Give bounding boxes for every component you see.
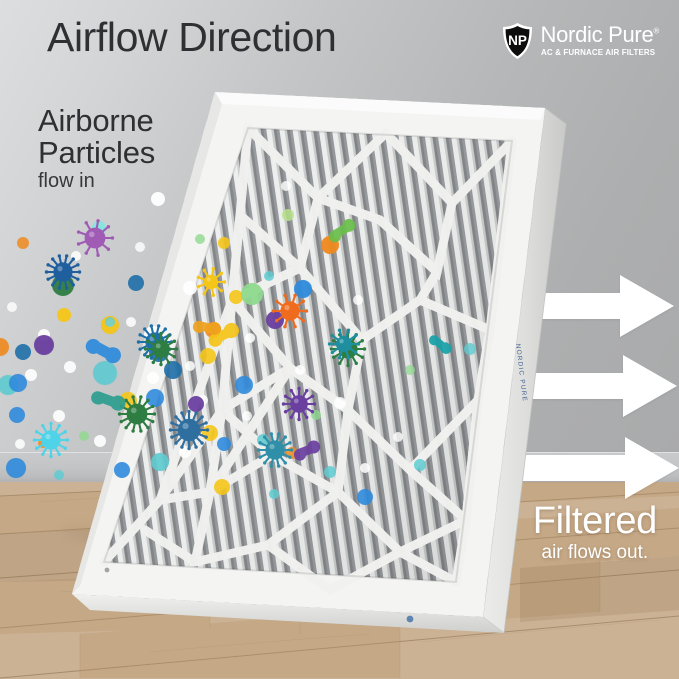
particle-dot bbox=[151, 192, 165, 206]
particle-germ bbox=[327, 327, 361, 361]
particle-germ bbox=[32, 421, 70, 459]
particle-dot bbox=[295, 365, 305, 375]
particle-dot bbox=[245, 333, 255, 343]
particle-dot bbox=[241, 283, 263, 305]
particle-dot bbox=[114, 462, 130, 478]
inflow-caption-line1: Airborne bbox=[38, 105, 155, 137]
particle-dot bbox=[25, 369, 37, 381]
particle-dot bbox=[54, 470, 64, 480]
particle-germ bbox=[271, 292, 309, 330]
particle-dot bbox=[15, 344, 31, 360]
particle-germ bbox=[143, 331, 179, 367]
particle-dot bbox=[135, 242, 145, 252]
particle-dot bbox=[282, 209, 294, 221]
particle-dot bbox=[126, 317, 136, 327]
inflow-caption: Airborne Particles flow in bbox=[38, 105, 155, 192]
particle-dot bbox=[269, 489, 279, 499]
page-title: Airflow Direction bbox=[47, 17, 336, 58]
inflow-caption-line2: Particles bbox=[38, 137, 155, 169]
registered-mark: ® bbox=[653, 27, 659, 36]
particle-dot bbox=[94, 435, 106, 447]
infographic-canvas: NORDIC PURE Airflow Direction NP Nordic … bbox=[0, 0, 679, 679]
particle-dot bbox=[6, 458, 26, 478]
particle-germ bbox=[75, 218, 115, 258]
particle-dot bbox=[34, 335, 54, 355]
particle-dot bbox=[264, 271, 274, 281]
particle-dot bbox=[93, 361, 117, 385]
particle-dot bbox=[324, 466, 336, 478]
particle-dot bbox=[357, 489, 373, 505]
particle-dot bbox=[334, 397, 346, 409]
particle-dot bbox=[218, 237, 230, 249]
particle-dot bbox=[414, 459, 426, 471]
particle-dot bbox=[7, 302, 17, 312]
particle-dot bbox=[9, 407, 25, 423]
particle-dot bbox=[217, 437, 231, 451]
outflow-caption-line1: Filtered bbox=[533, 502, 657, 541]
particle-dot bbox=[214, 479, 230, 495]
nordic-pure-shield-icon: NP bbox=[501, 22, 534, 60]
particle-dot bbox=[242, 411, 252, 421]
outflow-caption: Filtered air flows out. bbox=[533, 502, 657, 562]
particle-dot bbox=[17, 237, 29, 249]
particle-dot bbox=[105, 317, 115, 327]
particle-germ bbox=[195, 266, 227, 298]
particle-dot bbox=[151, 453, 169, 471]
particle-germ bbox=[281, 386, 317, 422]
outflow-caption-line2: air flows out. bbox=[533, 543, 657, 562]
brand-tagline: AC & FURNACE AIR FILTERS bbox=[541, 49, 656, 57]
particle-dot bbox=[9, 374, 27, 392]
particle-dot bbox=[353, 295, 363, 305]
particle-germ bbox=[168, 409, 210, 451]
particle-dot bbox=[128, 275, 144, 291]
particle-dot bbox=[281, 181, 291, 191]
particle-dot bbox=[64, 361, 76, 373]
particle-dot bbox=[464, 343, 476, 355]
particle-dot bbox=[15, 439, 25, 449]
brand-name: Nordic Pure bbox=[541, 22, 654, 47]
brand-logo: NP Nordic Pure® AC & FURNACE AIR FILTERS bbox=[501, 22, 659, 60]
particle-dot bbox=[147, 372, 159, 384]
particle-dot bbox=[185, 361, 195, 371]
particle-dot bbox=[235, 376, 253, 394]
particle-dot bbox=[360, 463, 370, 473]
particle-dot bbox=[57, 308, 71, 322]
particle-dot bbox=[405, 365, 415, 375]
inflow-caption-line3: flow in bbox=[38, 171, 155, 191]
particle-dot bbox=[393, 432, 403, 442]
logo-monogram: NP bbox=[508, 33, 527, 48]
particle-dot bbox=[79, 431, 89, 441]
particle-germ bbox=[256, 431, 294, 469]
particle-dot bbox=[200, 348, 216, 364]
particle-germ bbox=[44, 253, 82, 291]
particle-dot bbox=[195, 234, 205, 244]
